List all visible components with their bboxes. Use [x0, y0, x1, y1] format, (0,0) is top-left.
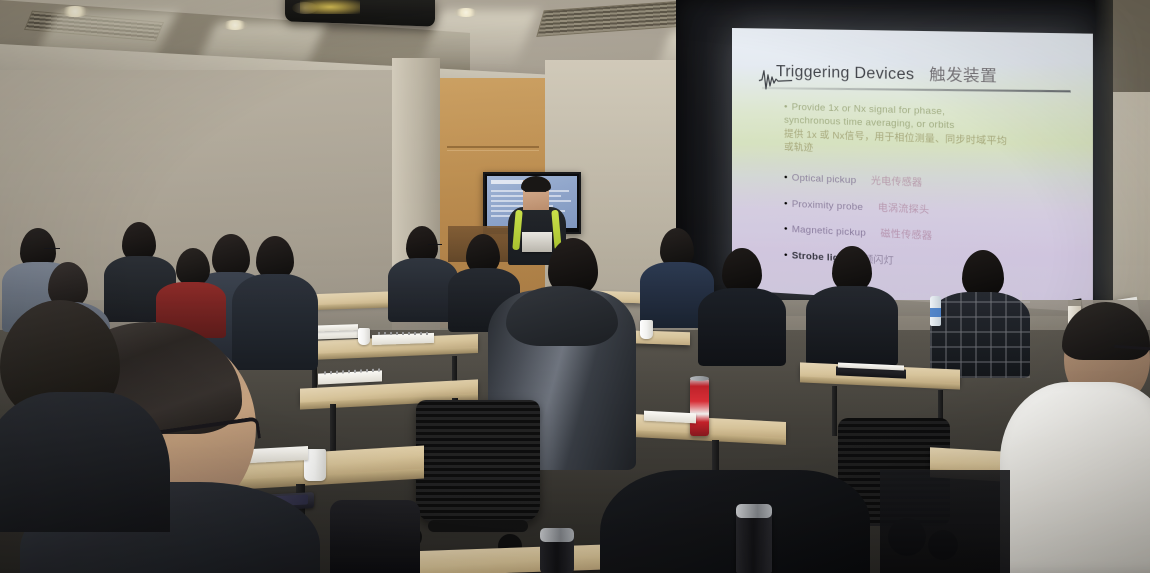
handheld-notes: [522, 232, 552, 252]
attendee-body: [806, 286, 898, 366]
slide-main-bullet: •Provide 1x or Nx signal for phase, sync…: [784, 99, 1070, 164]
bullet-glyph: •: [784, 250, 788, 261]
slide-body: •Provide 1x or Nx signal for phase, sync…: [784, 99, 1070, 289]
bottle-label: [930, 308, 941, 317]
bullet-cn: 磁性传感器: [881, 229, 933, 243]
classroom-photograph: Triggering Devices触发装置 •Provide 1x or Nx…: [0, 0, 1150, 573]
attendee-body-white-shirt: [1000, 382, 1150, 573]
chair-base: [428, 520, 528, 532]
beverage-can: [690, 378, 709, 436]
slide-bullet-item: •Strobe light频闪灯: [784, 247, 1070, 277]
panel-seam: [447, 150, 539, 151]
eyeglasses-icon: [428, 244, 442, 248]
desk-silhouette: [880, 470, 1010, 573]
eyeglasses-icon: [44, 248, 60, 252]
eyeglasses-icon: [525, 191, 546, 196]
slide-bullet-item: •Optical pickup光电传感器: [784, 169, 1070, 195]
can-lid: [690, 376, 709, 381]
projected-slide: Triggering Devices触发装置 •Provide 1x or Nx…: [732, 28, 1093, 312]
attendee-body: [0, 392, 170, 532]
bullet-glyph: •: [784, 99, 788, 113]
downlight-icon: [454, 8, 478, 17]
bullet-en: Optical pickup: [792, 173, 857, 187]
slide-title-cn: 触发装置: [929, 66, 997, 85]
bullet-glyph: •: [784, 172, 788, 183]
bullet-cn: 电涡流探头: [878, 202, 930, 216]
projection-screen-edge: [1095, 0, 1113, 327]
slide-bullet-list: •Optical pickup光电传感器 •Proximity probe电涡流…: [784, 169, 1070, 276]
downlight-icon: [60, 6, 90, 17]
bullet-glyph: •: [784, 224, 788, 235]
bullet-en: Proximity probe: [792, 199, 863, 213]
chair-silhouette: [330, 500, 420, 573]
desk-leg: [832, 386, 837, 436]
downlight-icon: [222, 20, 248, 30]
slide-bullet-item: •Magnetic pickup磁性传感器: [784, 221, 1070, 250]
slide-bullet-item: •Proximity probe电涡流探头: [784, 195, 1070, 223]
office-chair-back: [416, 400, 540, 522]
hood: [506, 286, 618, 346]
main-bullet-line2-cn: 或轨迹: [784, 141, 813, 153]
plaid-pattern: [930, 292, 1030, 378]
bullet-en: Magnetic pickup: [792, 224, 866, 239]
paper-cup: [358, 328, 370, 345]
attendee-head: [176, 248, 210, 286]
slide-title-en: Triggering Devices: [776, 63, 914, 84]
main-bullet-line1-cn: 提供 1x 或 Nx信号，用于相位测量、同步时域平均: [784, 127, 1007, 146]
attendee-body: [698, 288, 786, 366]
paper-cup: [640, 320, 653, 339]
attendee-body: [232, 274, 318, 370]
panel-seam: [447, 146, 539, 148]
attendee-body: [600, 470, 870, 573]
bullet-glyph: •: [784, 198, 788, 209]
projector-glow: [300, 0, 360, 14]
thermos-cap: [736, 504, 772, 518]
bottle-cap: [1068, 300, 1081, 306]
presenter-hair: [521, 176, 551, 192]
title-underline: [762, 87, 1071, 92]
thermos-cap: [540, 528, 574, 542]
slide-title: Triggering Devices触发装置: [776, 59, 1095, 89]
bullet-cn: 光电传感器: [871, 176, 922, 189]
binder-ring: [378, 332, 432, 335]
thermos-flask: [736, 512, 772, 573]
